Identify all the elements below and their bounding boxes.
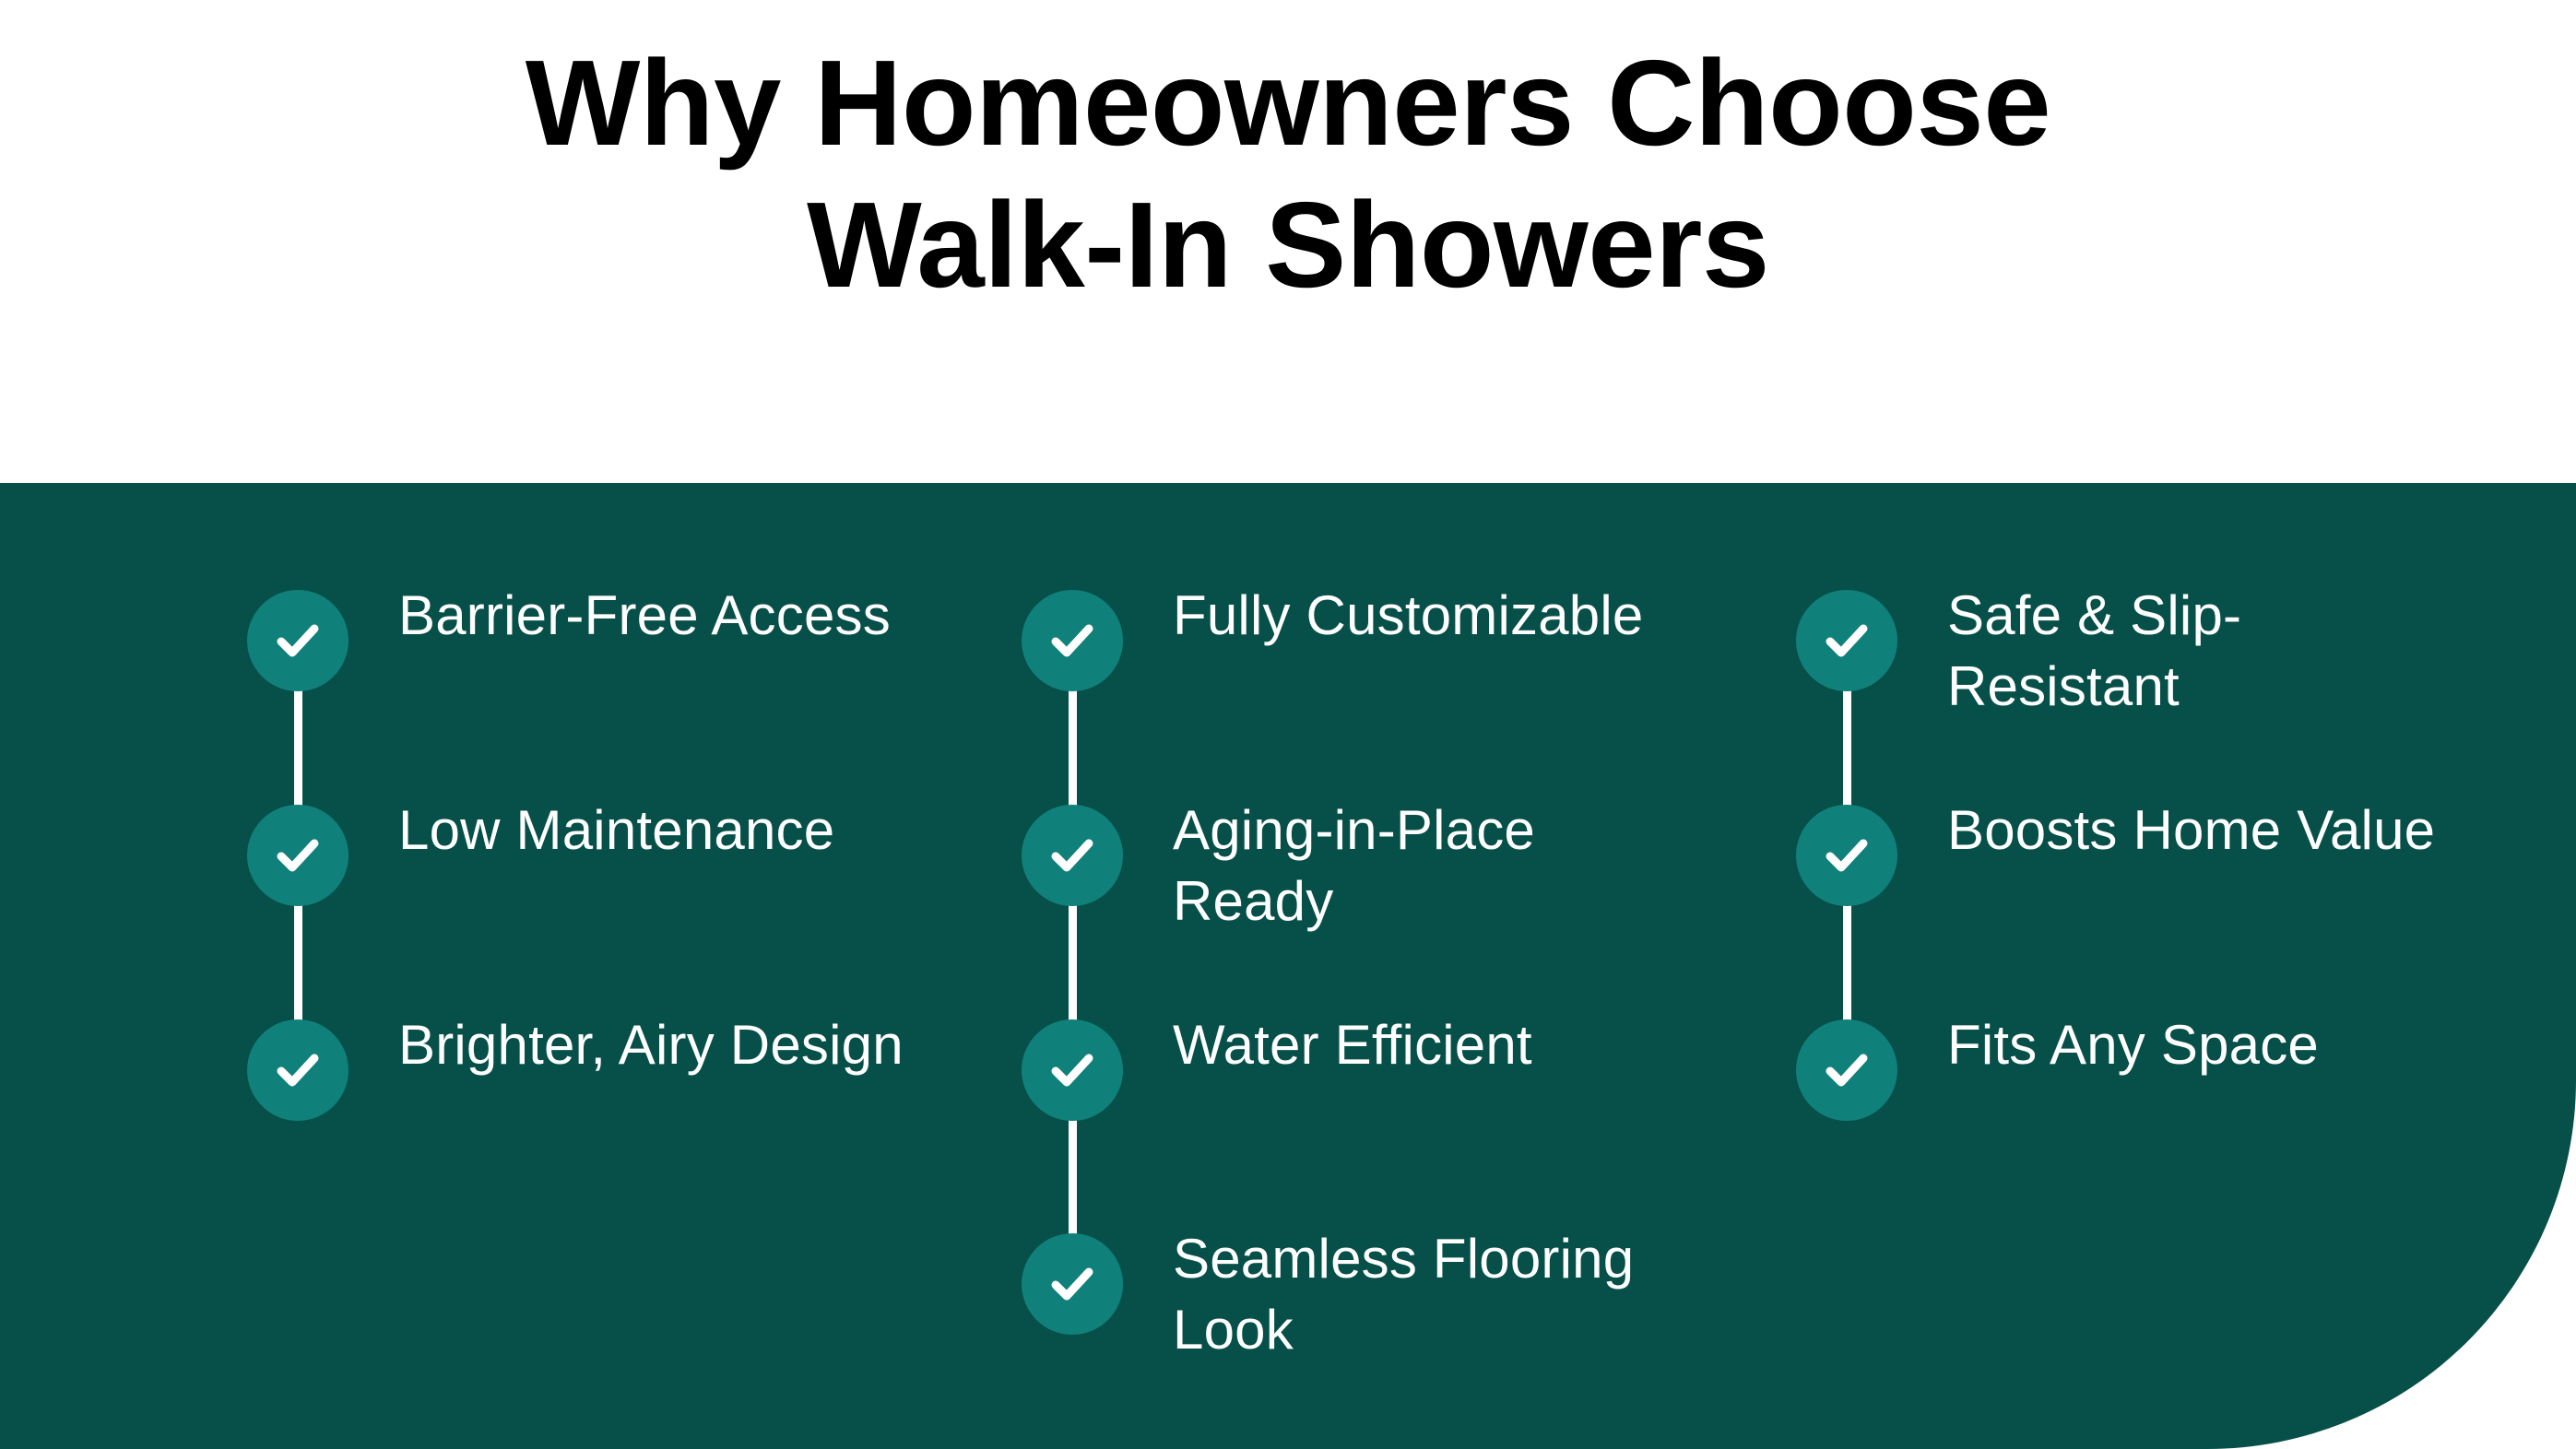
benefit-item[interactable]: Boosts Home Value	[1796, 805, 2497, 1019]
check-icon	[1796, 805, 1897, 906]
benefit-item[interactable]: Aging-in-Place Ready	[1022, 805, 1722, 1019]
benefit-label: Aging-in-Place Ready	[1173, 795, 1689, 937]
benefit-label: Barrier-Free Access	[398, 581, 915, 652]
page-title: Why Homeowners Choose Walk-In Showers	[0, 42, 2576, 306]
benefits-column-1: Barrier-Free Access Low Maintenance Brig…	[247, 483, 948, 1449]
benefit-item[interactable]: Fits Any Space	[1796, 1019, 2497, 1233]
benefit-label: Seamless Flooring Look	[1173, 1224, 1689, 1366]
check-icon	[1022, 805, 1123, 906]
benefit-item[interactable]: Water Efficient	[1022, 1019, 1722, 1233]
benefit-label: Boosts Home Value	[1947, 795, 2464, 866]
check-icon	[1796, 1019, 1897, 1121]
benefit-item[interactable]: Barrier-Free Access	[247, 590, 948, 804]
benefit-label: Water Efficient	[1173, 1010, 1689, 1081]
benefits-column-2: Fully Customizable Aging-in-Place Ready …	[1022, 483, 1722, 1449]
check-icon	[247, 805, 349, 906]
benefits-panel: Barrier-Free Access Low Maintenance Brig…	[0, 483, 2576, 1449]
benefit-item[interactable]: Safe & Slip-Resistant	[1796, 590, 2497, 804]
check-icon	[247, 1019, 349, 1121]
benefit-item[interactable]: Brighter, Airy Design	[247, 1019, 948, 1233]
benefit-label: Brighter, Airy Design	[398, 1010, 915, 1081]
page-title-line-1: Why Homeowners Choose	[0, 42, 2576, 164]
infographic-canvas: Why Homeowners Choose Walk-In Showers Ba…	[0, 0, 2576, 1449]
benefit-label: Fully Customizable	[1173, 581, 1689, 652]
check-icon	[247, 590, 349, 691]
check-icon	[1022, 1233, 1123, 1335]
benefit-label: Safe & Slip-Resistant	[1947, 581, 2464, 723]
benefit-item[interactable]: Low Maintenance	[247, 805, 948, 1019]
benefit-item[interactable]: Seamless Flooring Look	[1022, 1233, 1722, 1447]
check-icon	[1796, 590, 1897, 691]
benefit-label: Low Maintenance	[398, 795, 915, 866]
check-icon	[1022, 1019, 1123, 1121]
benefit-item[interactable]: Fully Customizable	[1022, 590, 1722, 804]
check-icon	[1022, 590, 1123, 691]
benefits-column-3: Safe & Slip-Resistant Boosts Home Value …	[1796, 483, 2497, 1449]
page-title-line-2: Walk-In Showers	[0, 184, 2576, 306]
benefit-label: Fits Any Space	[1947, 1010, 2464, 1081]
